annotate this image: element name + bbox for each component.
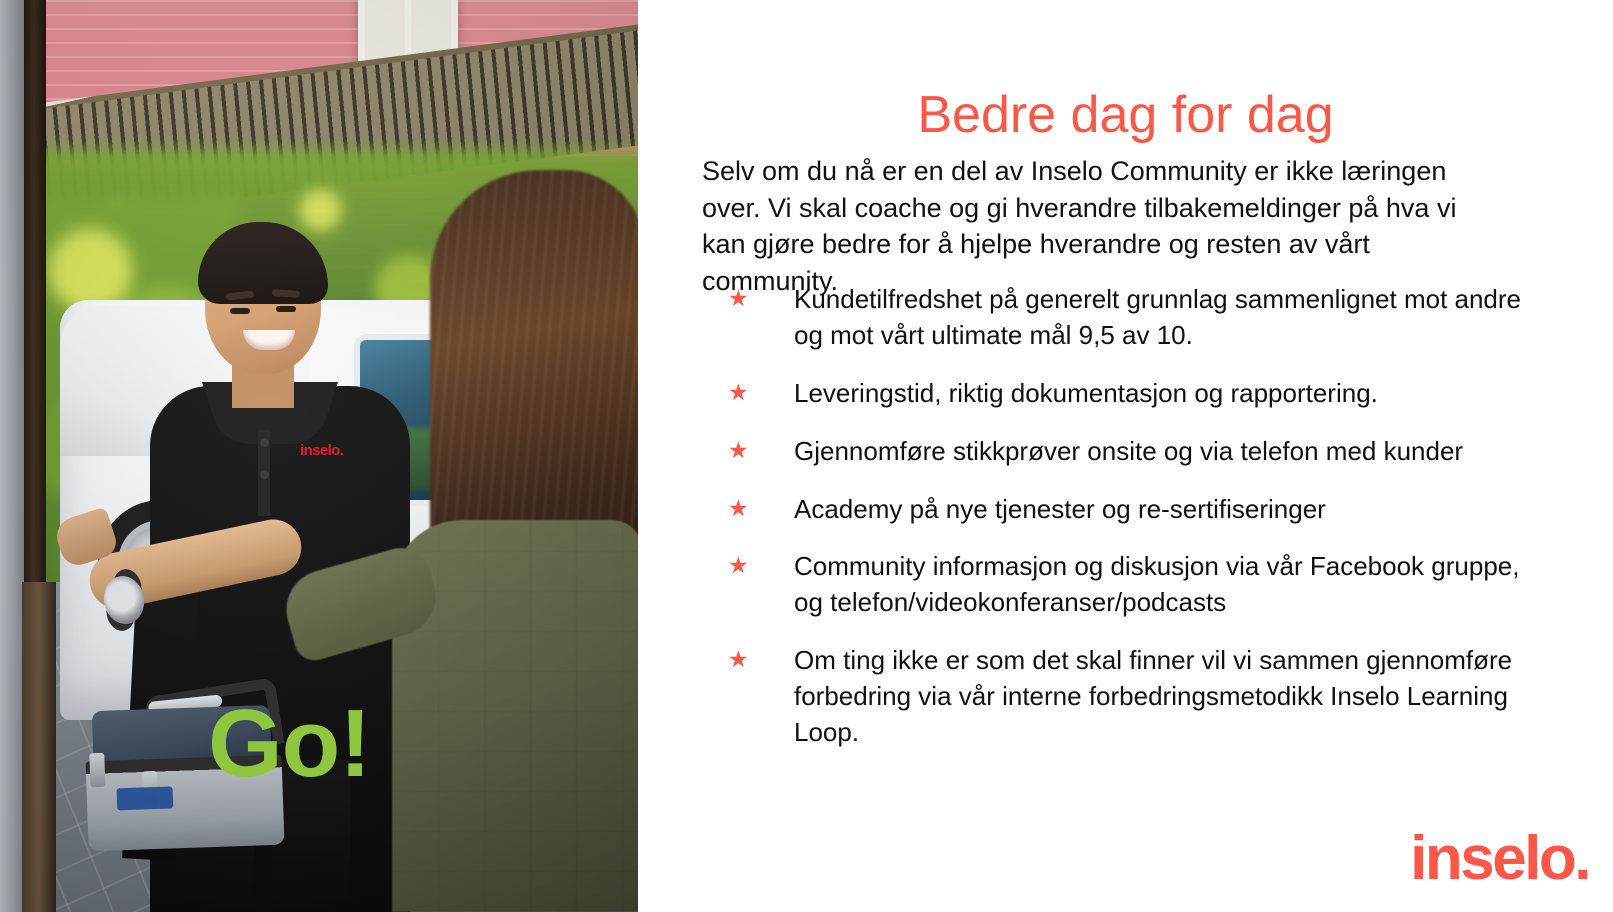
intro-paragraph: Selv om du nå er en del av Inselo Commun…	[702, 153, 1502, 300]
toolbox-latch-left	[89, 753, 105, 788]
slide: inselo. Go! Bedre	[0, 0, 1613, 912]
list-item: ★ Community informasjon og diskusjon via…	[702, 549, 1532, 621]
star-icon: ★	[728, 377, 749, 409]
go-overlay-text: Go!	[208, 696, 370, 792]
list-item: ★ Kundetilfredshet på generelt grunnlag …	[702, 282, 1532, 354]
star-icon: ★	[728, 644, 749, 676]
star-icon: ★	[728, 283, 749, 315]
list-item: ★ Om ting ikke er som det skal finner vi…	[702, 643, 1532, 751]
shirt-logo: inselo.	[300, 442, 343, 459]
star-icon: ★	[728, 493, 749, 525]
star-icon: ★	[728, 435, 749, 467]
bullet-list: ★ Kundetilfredshet på generelt grunnlag …	[702, 282, 1532, 773]
technician-eye-right	[276, 306, 296, 312]
door-panel	[0, 0, 24, 912]
list-item: ★ Academy på nye tjenester og re-sertifi…	[702, 492, 1532, 528]
polo-button-bottom	[260, 470, 269, 479]
inselo-logo: inselo.	[1410, 828, 1589, 890]
star-icon: ★	[728, 550, 749, 582]
toolbox-label	[116, 786, 173, 810]
technician-eye-left	[230, 308, 250, 314]
list-item-label: Gjennomføre stikkprøver onsite og via te…	[794, 436, 1463, 466]
content-panel: Bedre dag for dag Selv om du nå er en de…	[638, 0, 1613, 912]
polo-button-top	[260, 438, 269, 447]
list-item-label: Om ting ikke er som det skal finner vil …	[794, 645, 1512, 747]
list-item-label: Leveringstid, riktig dokumentasjon og ra…	[794, 378, 1378, 408]
page-title: Bedre dag for dag	[638, 87, 1613, 144]
list-item-label: Community informasjon og diskusjon via v…	[794, 551, 1519, 617]
list-item: ★ Leveringstid, riktig dokumentasjon og …	[702, 376, 1532, 412]
list-item-label: Kundetilfredshet på generelt grunnlag sa…	[794, 284, 1521, 350]
list-item: ★ Gjennomføre stikkprøver onsite og via …	[702, 434, 1532, 470]
hero-photo: inselo. Go!	[0, 0, 638, 912]
door-threshold	[22, 582, 56, 912]
list-item-label: Academy på nye tjenester og re-sertifise…	[794, 494, 1326, 524]
